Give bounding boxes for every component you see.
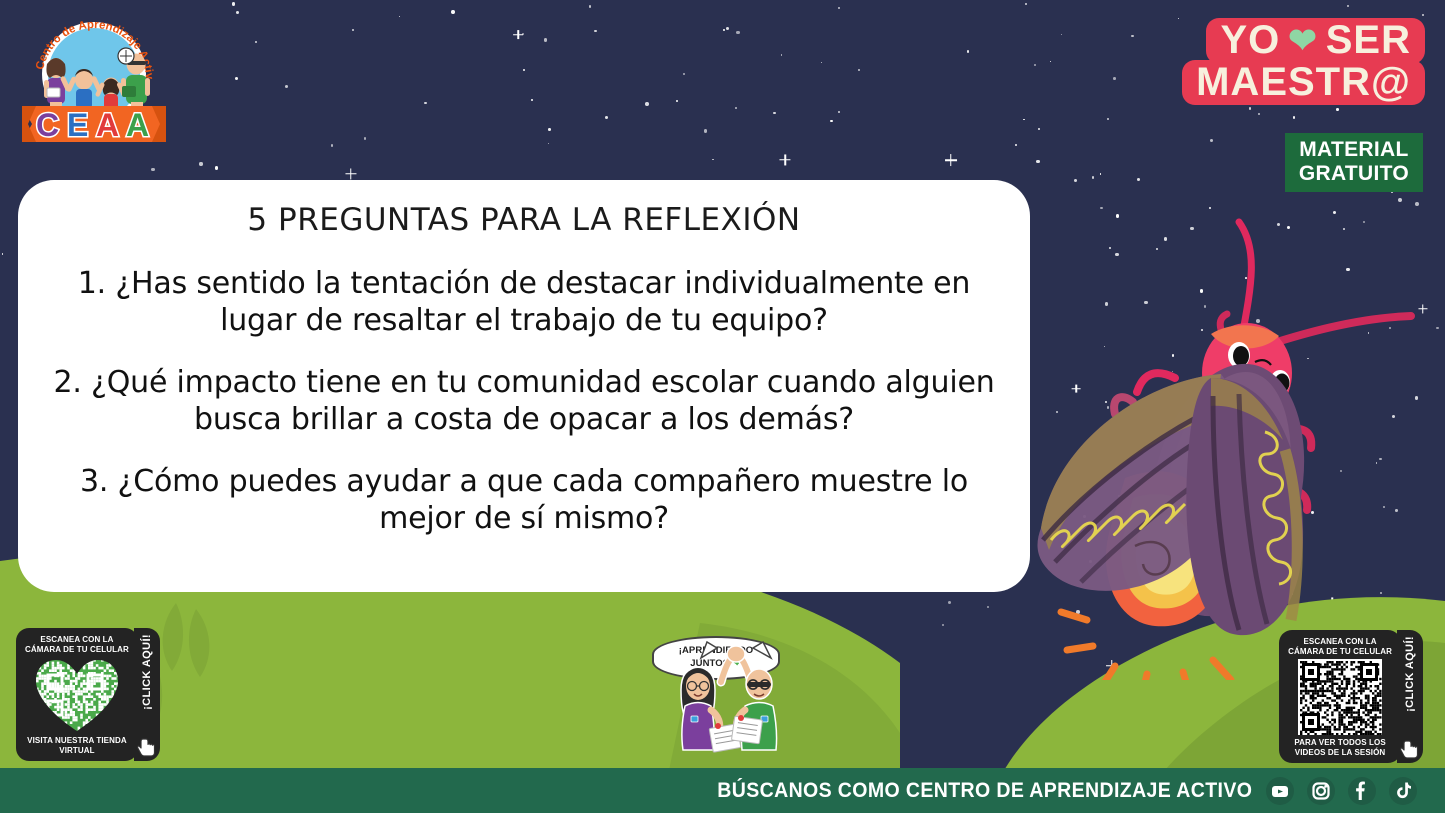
footer-text: BÚSCANOS COMO CENTRO DE APRENDIZAJE ACTI… xyxy=(717,779,1252,803)
facebook-icon[interactable] xyxy=(1348,777,1376,805)
qr-right-bot-line2: VIDEOS DE LA SESIÓN xyxy=(1295,748,1386,757)
click-tab-left[interactable]: ¡CLICK AQUÍ! xyxy=(134,628,160,761)
instagram-icon[interactable] xyxy=(1307,777,1335,805)
pointing-hand-icon xyxy=(136,737,158,757)
qr-right-bot-line1: PARA VER TODOS LOS xyxy=(1294,738,1385,747)
page-title: 5 PREGUNTAS PARA LA REFLEXIÓN xyxy=(247,202,800,238)
qr-left-top-text: ESCANEA CON LA CÁMARA DE TU CELULAR xyxy=(25,635,129,654)
click-tab-right[interactable]: ¡CLICK AQUÍ! xyxy=(1397,630,1423,763)
badge-maestra-text: MAESTR@ xyxy=(1196,62,1411,104)
qr-right-top-line1: ESCANEA CON LA xyxy=(1303,637,1376,646)
qr-right-bottom-text: PARA VER TODOS LOS VIDEOS DE LA SESIÓN xyxy=(1294,738,1385,757)
question-3: 3. ¿Cómo puedes ayudar a que cada compañ… xyxy=(44,464,1004,537)
qr-card-right[interactable]: ESCANEA CON LA CÁMARA DE TU CELULAR xyxy=(1279,630,1401,763)
svg-text:A: A xyxy=(126,107,149,143)
qr-left-bot-line2: VIRTUAL xyxy=(59,746,94,755)
pointing-hand-icon xyxy=(1399,739,1421,759)
qr-code[interactable] xyxy=(1298,659,1382,735)
click-label-left: ¡CLICK AQUÍ! xyxy=(141,634,153,710)
firefly-illustration xyxy=(1015,210,1415,680)
material-line-2: GRATUITO xyxy=(1299,162,1409,186)
slide-canvas: Centro de Aprendizaje Activo xyxy=(0,0,1445,813)
qr-left-bot-line1: VISITA NUESTRA TIENDA xyxy=(27,736,127,745)
qr-left-top-line1: ESCANEA CON LA xyxy=(40,635,113,644)
yo-amo-ser-maestra-badge[interactable]: YO ❤ SER MAESTR@ xyxy=(1175,18,1425,105)
footer-bar: BÚSCANOS COMO CENTRO DE APRENDIZAJE ACTI… xyxy=(0,768,1445,813)
qr-right-top-line2: CÁMARA DE TU CELULAR xyxy=(1288,647,1392,656)
svg-text:C: C xyxy=(36,107,59,143)
two-teachers-illustration xyxy=(655,638,805,768)
ceaa-logo[interactable]: Centro de Aprendizaje Activo xyxy=(14,14,174,154)
heart-icon: ❤ xyxy=(1288,24,1318,58)
questions-card: 5 PREGUNTAS PARA LA REFLEXIÓN 1. ¿Has se… xyxy=(18,180,1030,592)
qr-right-top-text: ESCANEA CON LA CÁMARA DE TU CELULAR xyxy=(1288,637,1392,656)
qr-block-videos[interactable]: ESCANEA CON LA CÁMARA DE TU CELULAR xyxy=(1279,630,1423,763)
badge-yo-text: YO xyxy=(1220,20,1280,62)
material-line-1: MATERIAL xyxy=(1299,138,1409,162)
tiktok-icon[interactable] xyxy=(1389,777,1417,805)
click-label-right: ¡CLICK AQUÍ! xyxy=(1404,636,1416,712)
badge-ser-text: SER xyxy=(1326,20,1411,62)
question-1: 1. ¿Has sentido la tentación de destacar… xyxy=(44,266,1004,339)
youtube-icon[interactable] xyxy=(1266,777,1294,805)
question-2: 2. ¿Qué impacto tiene en tu comunidad es… xyxy=(44,365,1004,438)
svg-text:A: A xyxy=(96,107,119,143)
svg-text:E: E xyxy=(67,107,88,143)
material-gratuito-badge: MATERIAL GRATUITO xyxy=(1285,133,1423,192)
heart-qr-code[interactable] xyxy=(34,657,120,733)
qr-left-bottom-text: VISITA NUESTRA TIENDA VIRTUAL xyxy=(27,736,127,755)
qr-left-top-line2: CÁMARA DE TU CELULAR xyxy=(25,645,129,654)
qr-block-tienda[interactable]: ESCANEA CON LA CÁMARA DE TU CELULAR xyxy=(16,628,160,761)
qr-card-left[interactable]: ESCANEA CON LA CÁMARA DE TU CELULAR xyxy=(16,628,138,761)
social-links xyxy=(1266,777,1417,805)
